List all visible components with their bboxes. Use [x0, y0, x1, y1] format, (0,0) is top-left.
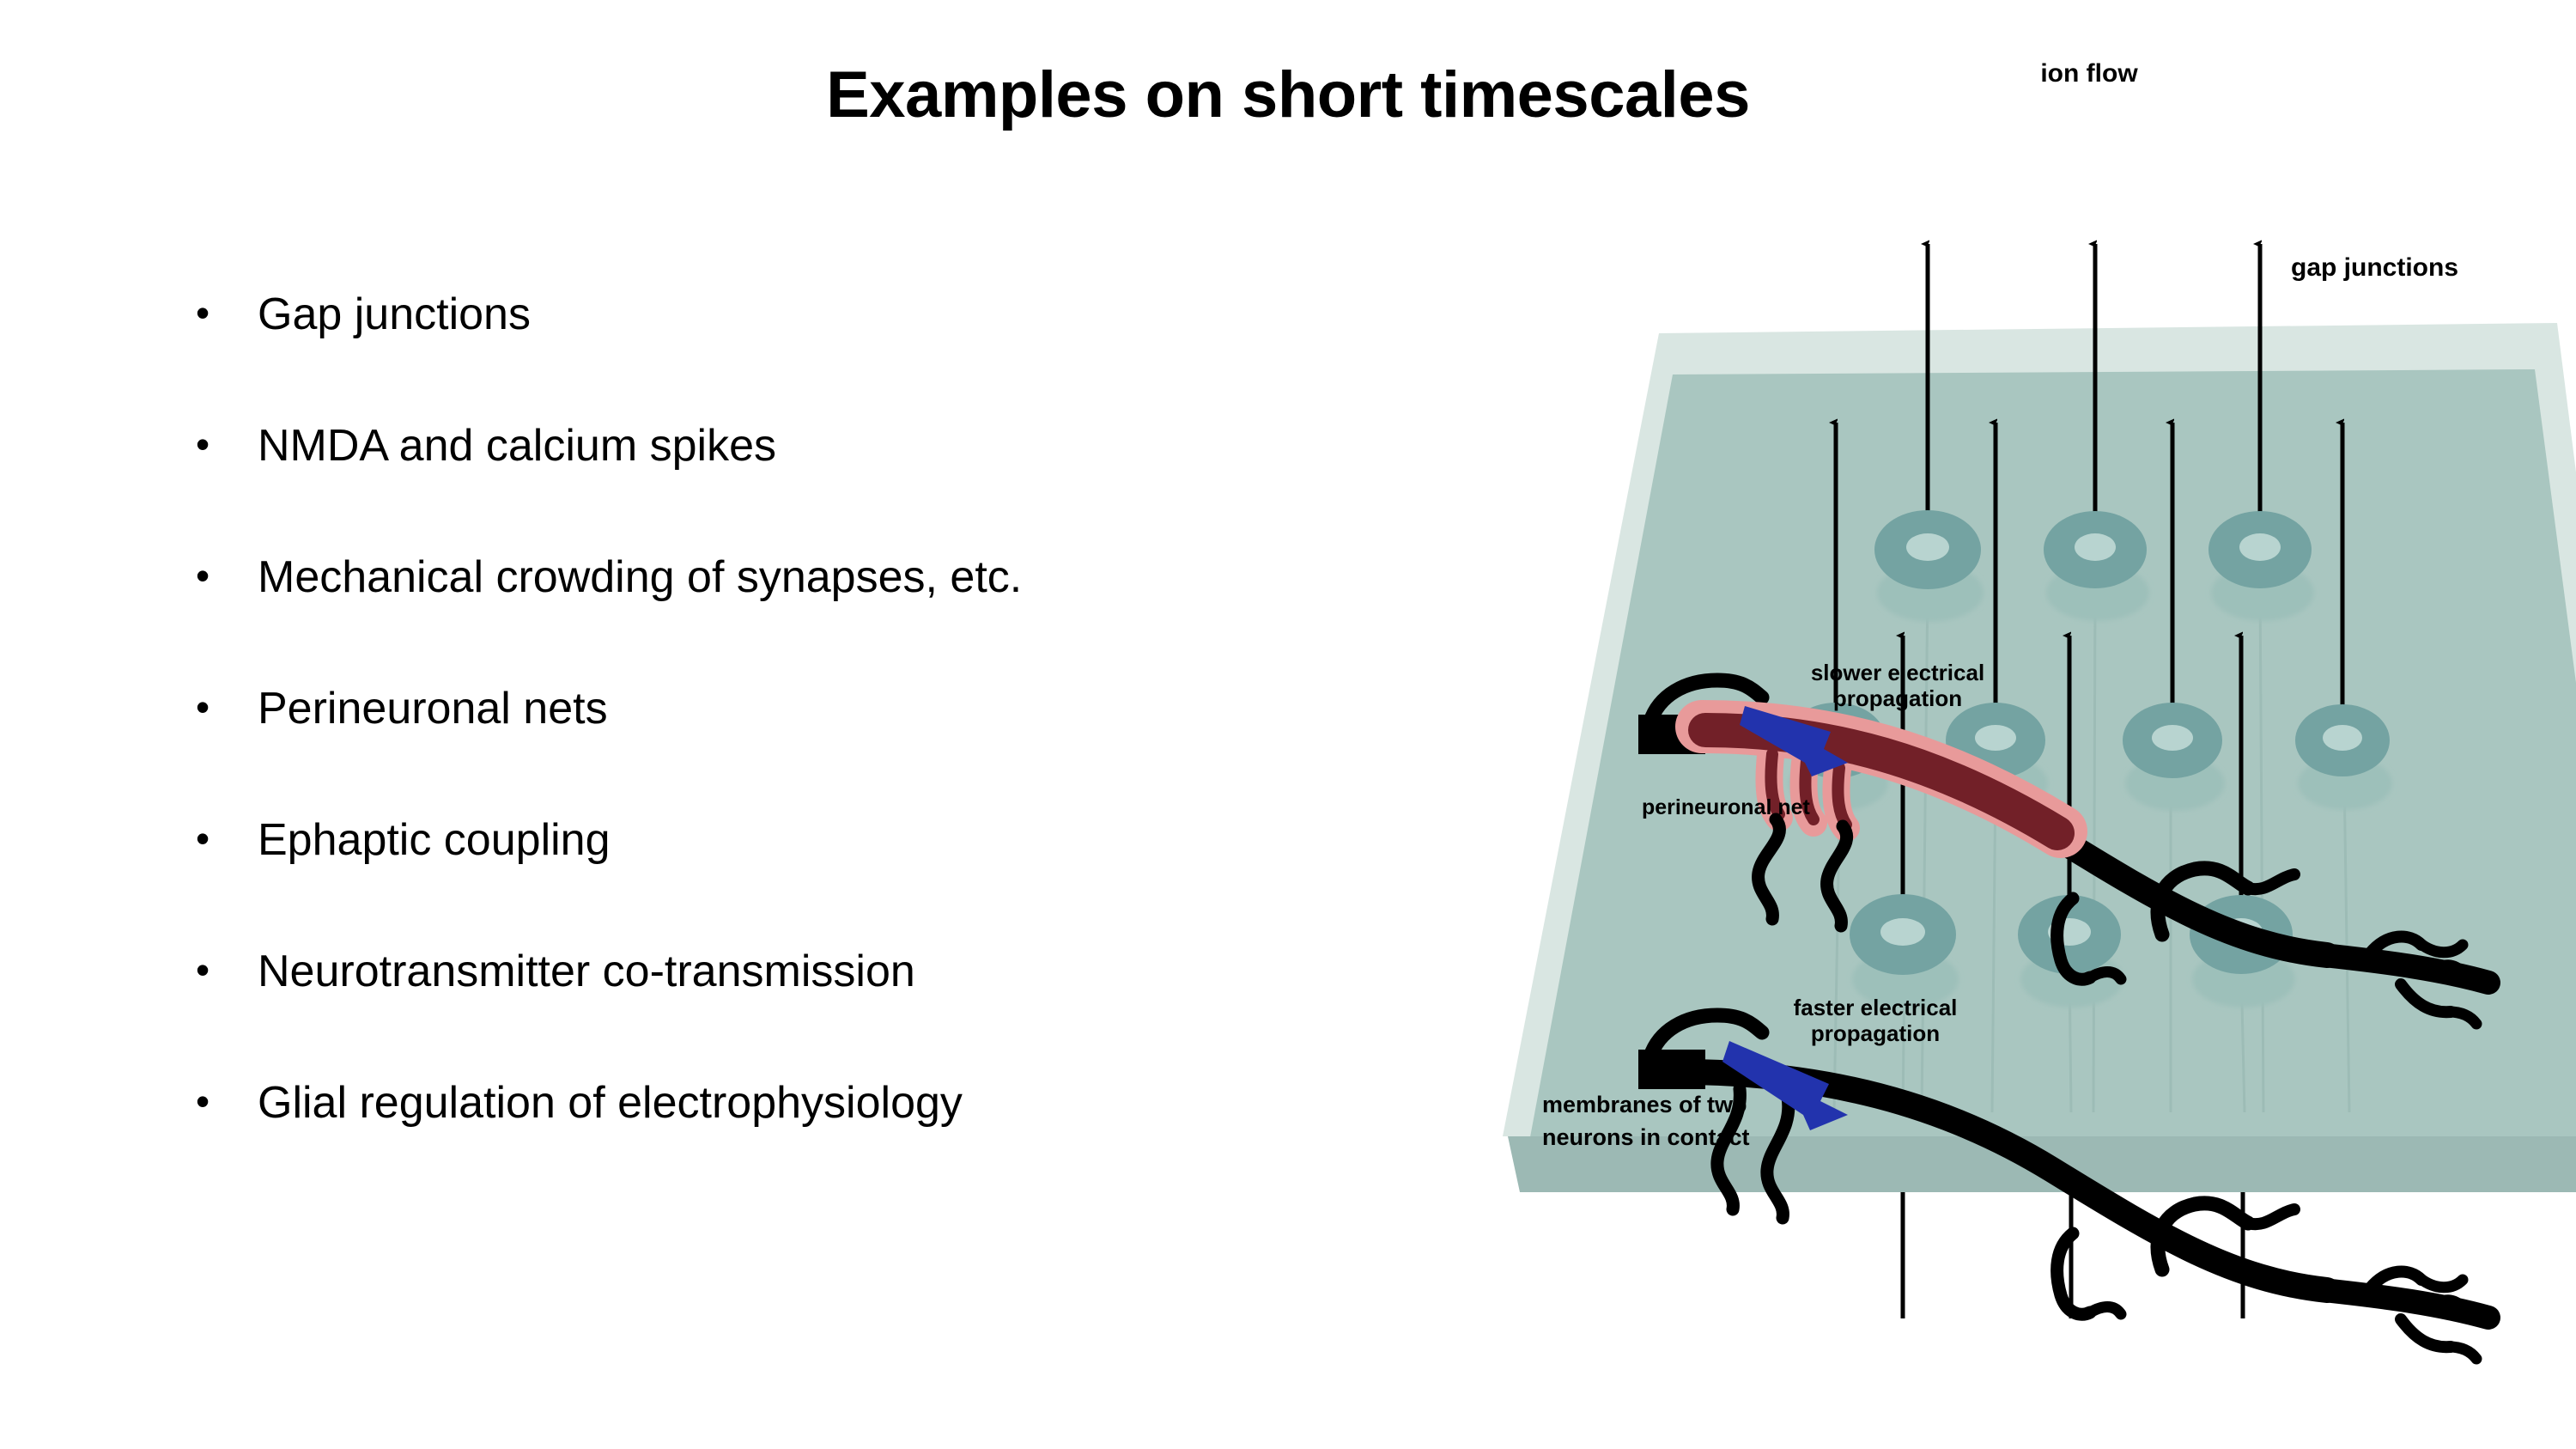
list-item-label: Ephaptic coupling	[258, 815, 611, 865]
list-item-label: Neurotransmitter co-transmission	[258, 947, 915, 996]
bullet-icon: •	[196, 686, 210, 728]
gap-junction-hole	[1880, 918, 1925, 946]
faster-neuron-terminal-d	[2090, 1307, 2121, 1315]
bullet-icon: •	[196, 1081, 210, 1123]
gap-junction-row-bottom	[1850, 894, 2295, 1008]
faster-neuron-terminal-e	[2370, 1272, 2421, 1288]
gap-junctions-label: gap junctions	[2291, 253, 2458, 282]
bullet-list: • Gap junctions • NMDA and calcium spike…	[189, 292, 1434, 1212]
gap-junction-hole	[1906, 533, 1949, 561]
bullet-icon: •	[196, 423, 210, 466]
gap-junction-hole	[2323, 725, 2362, 751]
gap-junction-hole	[2075, 533, 2116, 561]
membranes-label-line1: membranes of two	[1542, 1092, 1747, 1117]
list-item: • Gap junctions	[189, 292, 1434, 337]
faster-neuron-terminal-f	[2420, 1278, 2463, 1288]
gap-junction-hole	[2239, 533, 2281, 561]
list-item: • NMDA and calcium spikes	[189, 423, 1434, 468]
faster-propagation-label-line1: faster electrical	[1794, 995, 1958, 1020]
list-item-label: Gap junctions	[258, 289, 531, 339]
faster-neuron-terminal-h	[2449, 1347, 2476, 1359]
figure-area: ion flow gap junctions membranes of two …	[1460, 34, 2576, 1449]
faster-propagation-label-line2: propagation	[1811, 1020, 1940, 1046]
gap-junction-hole	[2152, 725, 2193, 751]
faster-neuron-terminal-b	[2248, 1209, 2294, 1224]
list-item: • Mechanical crowding of synapses, etc.	[189, 555, 1434, 600]
gap-junction-row-top	[1874, 510, 2314, 622]
list-item: • Ephaptic coupling	[189, 818, 1434, 862]
perineuronal-net-label: perineuronal net	[1642, 795, 1811, 819]
list-item-label: Perineuronal nets	[258, 684, 608, 734]
bullet-icon: •	[196, 292, 210, 334]
list-item-label: NMDA and calcium spikes	[258, 421, 776, 471]
bullet-icon: •	[196, 555, 210, 597]
list-item-label: Mechanical crowding of synapses, etc.	[258, 552, 1022, 602]
bullet-icon: •	[196, 949, 210, 991]
list-item: • Neurotransmitter co-transmission	[189, 949, 1434, 994]
ion-flow-label: ion flow	[2040, 59, 2138, 88]
list-item: • Glial regulation of electrophysiology	[189, 1081, 1434, 1125]
list-item: • Perineuronal nets	[189, 686, 1434, 731]
gap-junction-hole	[1975, 725, 2016, 751]
slower-propagation-label-line2: propagation	[1833, 685, 1962, 711]
faster-neuron-terminal-g	[2401, 1319, 2451, 1347]
bullet-icon: •	[196, 818, 210, 860]
list-item-label: Glial regulation of electrophysiology	[258, 1078, 963, 1128]
gap-junction-diagram: ion flow gap junctions membranes of two …	[1503, 59, 2576, 1318]
faster-neuron-terminal-c	[2057, 1233, 2090, 1314]
slower-propagation-label-line1: slower electrical	[1811, 660, 1984, 685]
